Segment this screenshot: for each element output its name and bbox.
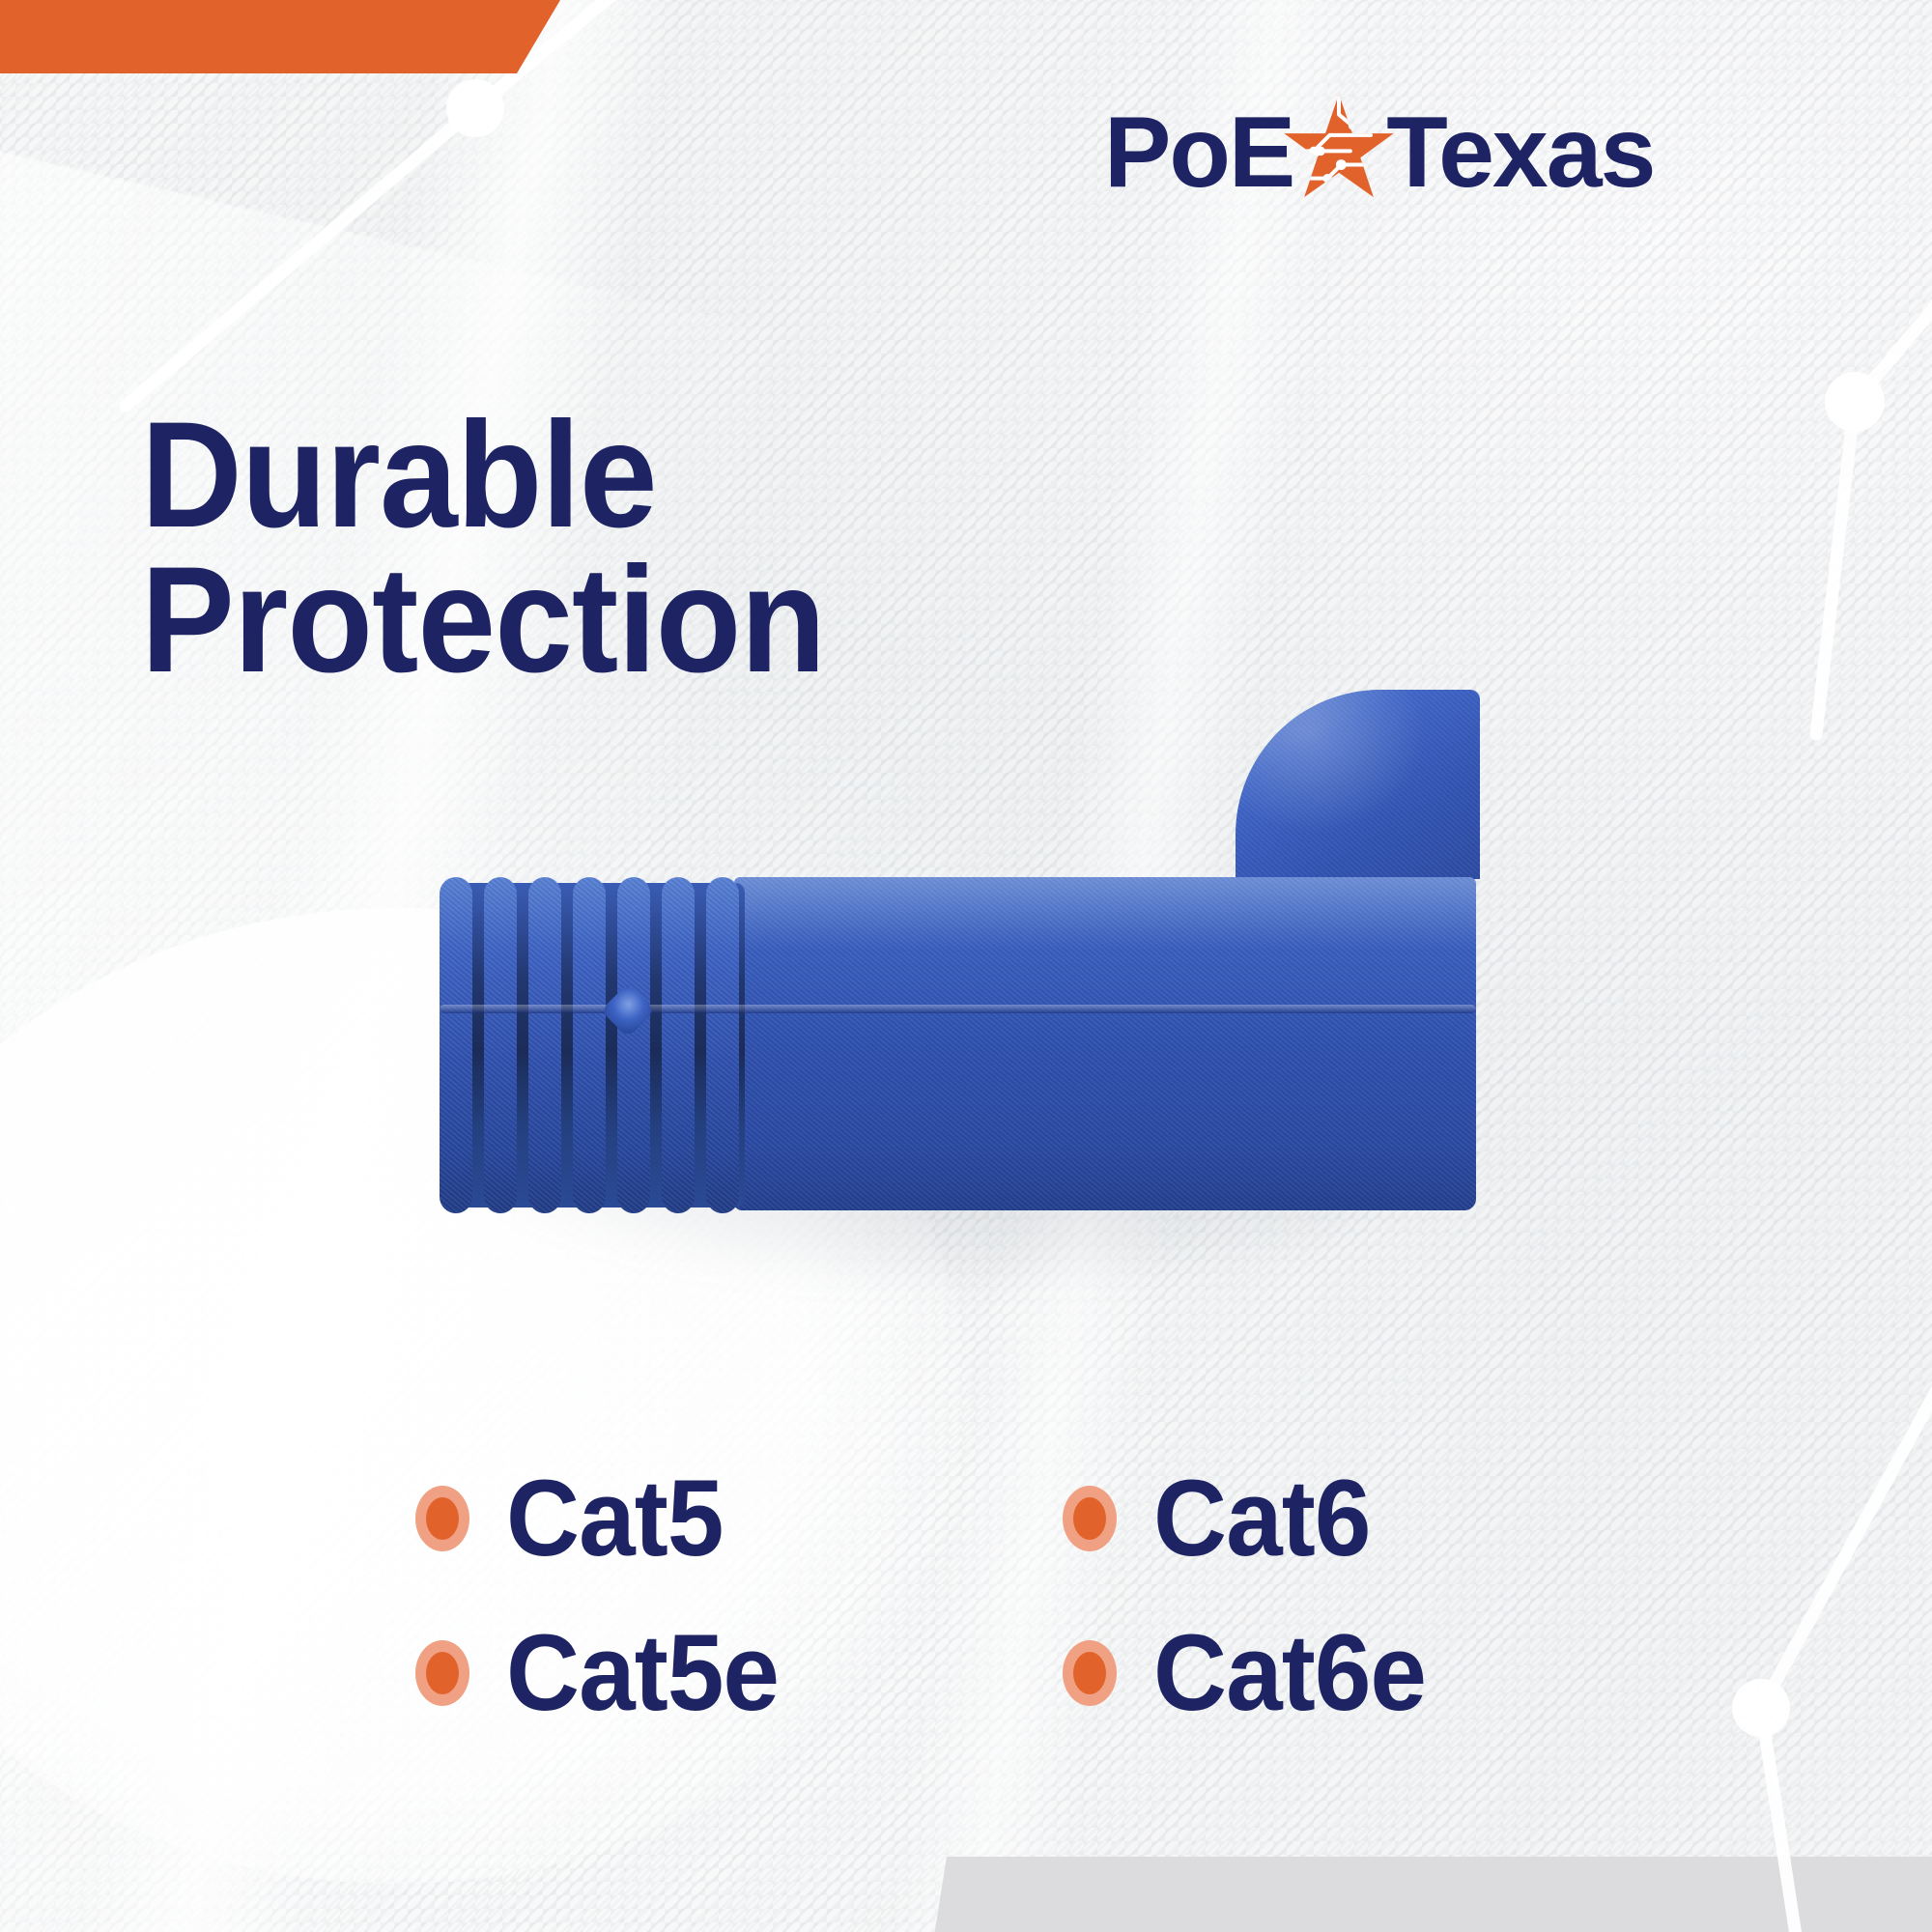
boot-ribbed-section [440, 877, 747, 1213]
page-title: Durable Protection [141, 404, 1219, 694]
list-item: Cat5 [415, 1464, 1063, 1573]
boot-rib [484, 877, 517, 1213]
list-item-label: Cat5 [506, 1464, 723, 1573]
compatibility-list: Cat5 Cat6 Cat5e Cat6e [415, 1441, 1575, 1750]
orange-dot-icon [415, 1486, 469, 1551]
headline-line-two: Protection [141, 549, 1219, 694]
boot-rib [662, 877, 695, 1213]
boot-mold-seam [440, 1005, 1476, 1013]
background-gray-plate [928, 1857, 1932, 1932]
list-item-label: Cat6 [1153, 1464, 1370, 1573]
star-circuit-icon [1282, 92, 1396, 206]
boot-rib [573, 877, 606, 1213]
product-image-cable-boot [440, 676, 1512, 1314]
boot-rib [440, 877, 472, 1213]
boot-solid-body [734, 877, 1476, 1210]
list-item-label: Cat5e [506, 1619, 779, 1727]
headline-line-one: Durable [141, 404, 1219, 549]
boot-strain-relief-tab [1236, 690, 1480, 879]
logo-text-poe: PoE [1104, 102, 1293, 203]
list-item: Cat6 [1063, 1464, 1575, 1573]
boot-rib [706, 877, 739, 1213]
orange-dot-core [426, 1497, 459, 1540]
boot-rib [528, 877, 561, 1213]
orange-corner-bar [0, 0, 560, 73]
list-item: Cat5e [415, 1619, 1063, 1727]
list-item: Cat6e [1063, 1619, 1575, 1727]
brand-logo: PoE [1104, 100, 1654, 205]
orange-dot-icon [1063, 1640, 1117, 1706]
orange-dot-core [426, 1652, 459, 1694]
boot-rib [617, 877, 650, 1213]
marketing-graphic: PoE [0, 0, 1932, 1932]
orange-dot-core [1073, 1652, 1106, 1694]
orange-dot-icon [1063, 1486, 1117, 1551]
logo-text-texas: Texas [1386, 102, 1654, 203]
orange-dot-core [1073, 1497, 1106, 1540]
list-item-label: Cat6e [1153, 1619, 1426, 1727]
orange-dot-icon [415, 1640, 469, 1706]
